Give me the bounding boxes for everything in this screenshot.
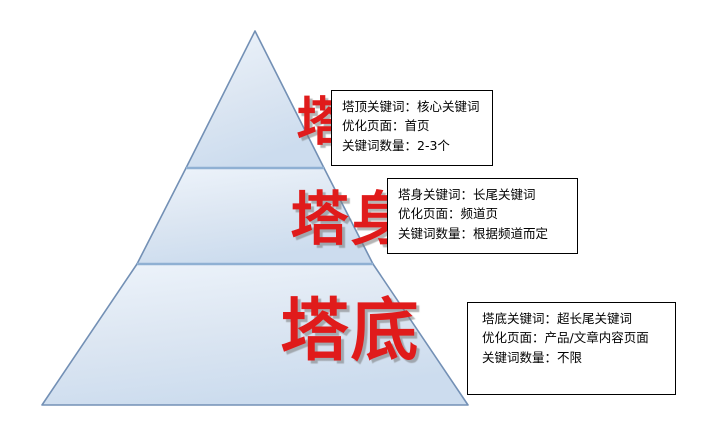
tier-label-body: 塔身 [0,190,701,248]
callout-base-line-1: 塔底关键词：超长尾关键词 [482,309,667,328]
callout-base-line-3: 关键词数量：不限 [482,348,667,367]
callout-top-line-3: 关键词数量：2-3个 [342,136,484,155]
callout-body-line-2: 优化页面：频道页 [398,204,569,223]
diagram-canvas: 塔顶 塔身 塔底 塔顶关键词：核心关键词 优化页面：首页 关键词数量：2-3个 … [0,0,701,421]
callout-top-line-1: 塔顶关键词：核心关键词 [342,97,484,116]
callout-box-base: 塔底关键词：超长尾关键词 优化页面：产品/文章内容页面 关键词数量：不限 [467,302,676,395]
callout-body-line-1: 塔身关键词：长尾关键词 [398,185,569,204]
callout-box-top: 塔顶关键词：核心关键词 优化页面：首页 关键词数量：2-3个 [331,90,493,166]
callout-body-line-3: 关键词数量：根据频道而定 [398,224,569,243]
callout-base-line-2: 优化页面：产品/文章内容页面 [482,328,667,347]
callout-top-line-2: 优化页面：首页 [342,116,484,135]
callout-box-body: 塔身关键词：长尾关键词 优化页面：频道页 关键词数量：根据频道而定 [387,178,578,254]
